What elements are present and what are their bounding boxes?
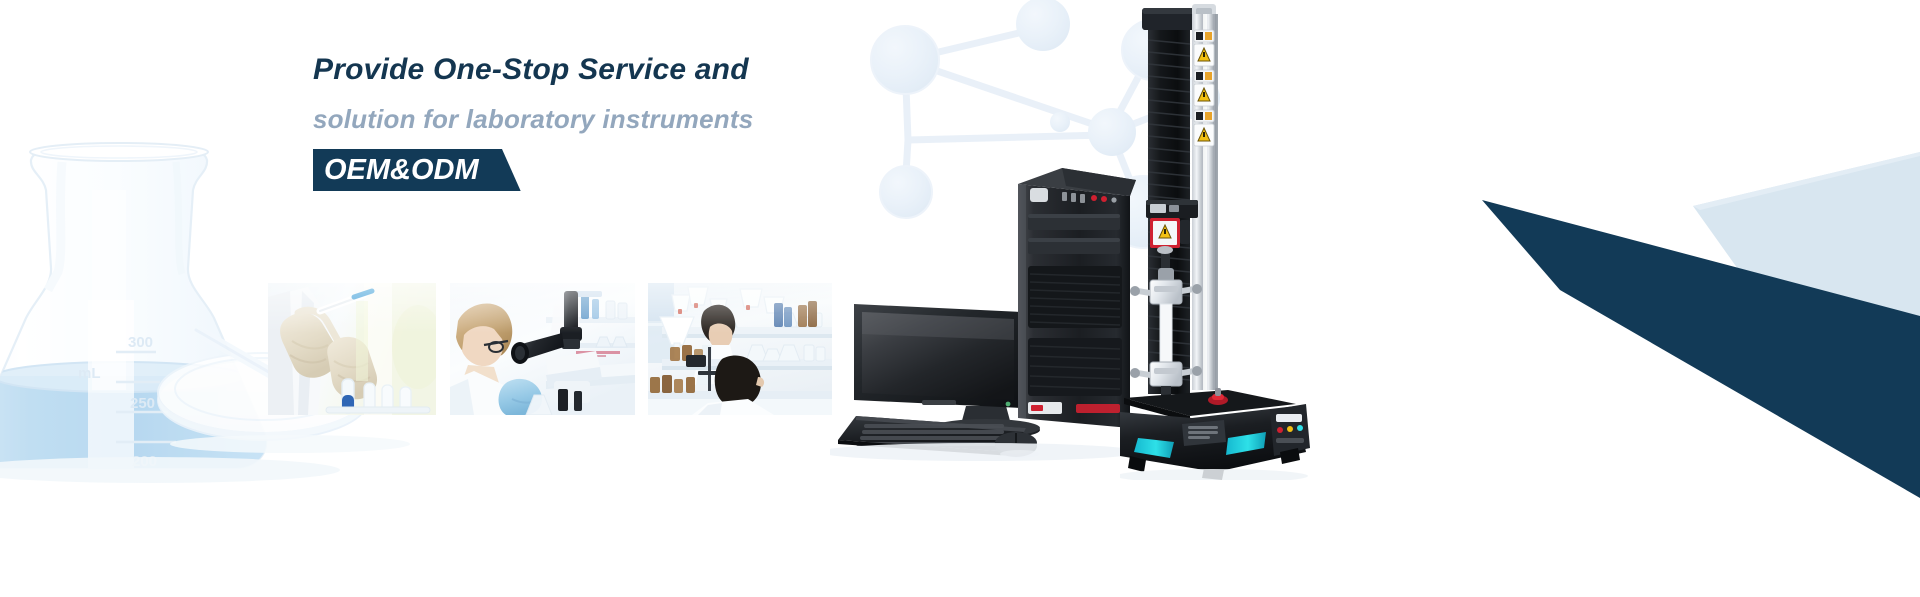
hero-banner: 300 250 200 mL [0, 0, 1920, 597]
photo-microscope [450, 283, 635, 415]
pc-tower-shape [1018, 168, 1136, 428]
photo-pipetting [268, 283, 436, 415]
photo-lab-bench [648, 283, 832, 415]
oem-odm-badge: OEM&ODM [313, 149, 521, 191]
lab-photo-strip [268, 283, 832, 415]
badge-label: OEM&ODM [313, 149, 521, 191]
universal-tensile-testing-machine [1120, 0, 1300, 470]
